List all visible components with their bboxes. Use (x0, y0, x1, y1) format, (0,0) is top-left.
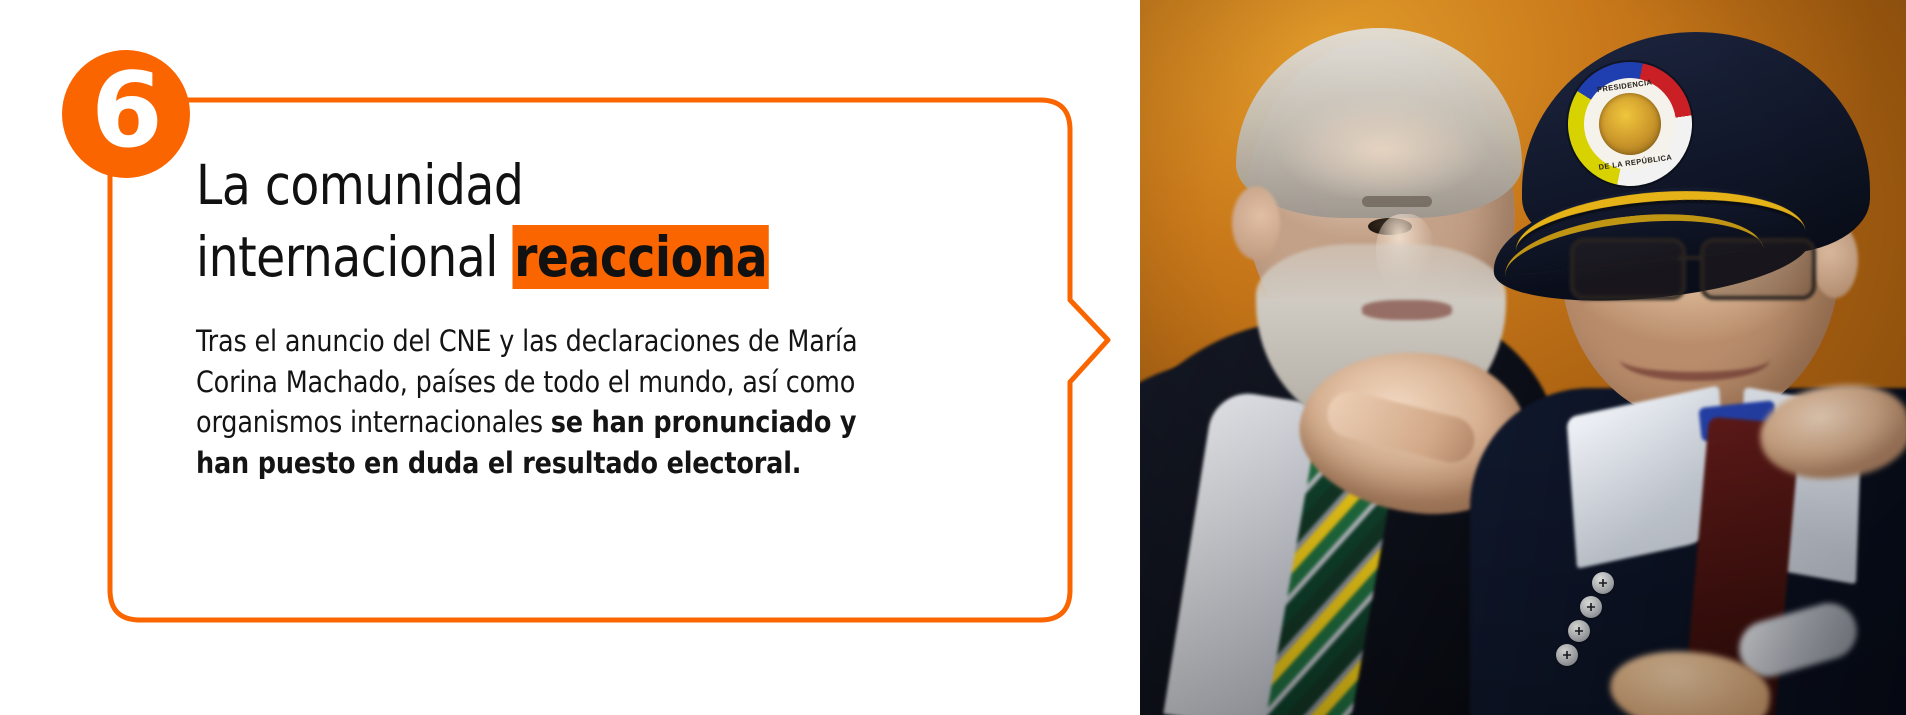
body-line-2: Corina Machado, países de todo el mundo,… (196, 362, 896, 403)
body-line-3: organismos internacionales se han pronun… (196, 402, 896, 443)
body-line-1: Tras el anuncio del CNE y las declaracio… (196, 321, 896, 362)
infographic-card: 6 La comunidad internacional reacciona T… (0, 0, 1906, 715)
body-line-4: han puesto en duda el resultado electora… (196, 443, 896, 484)
headline-line-2: internacional reacciona (196, 222, 798, 294)
body-paragraph: Tras el anuncio del CNE y las declaracio… (196, 321, 896, 483)
callout-panel: 6 La comunidad internacional reacciona T… (0, 0, 1140, 715)
step-number-label: 6 (91, 60, 161, 163)
headline-highlight-word: reacciona (512, 225, 769, 289)
photo-vignette (1140, 0, 1906, 715)
headline-line-2-plain: internacional (196, 225, 512, 289)
photo: PRESIDENCIA DE LA REPÚBLICA (1140, 0, 1906, 715)
headline: La comunidad internacional reacciona (196, 150, 798, 293)
body-line-3-plain: organismos internacionales (196, 405, 551, 439)
step-number-badge: 6 (62, 50, 190, 178)
headline-line-1: La comunidad (196, 150, 798, 222)
body-line-3-bold: se han pronunciado y (551, 405, 857, 439)
callout-content: La comunidad internacional reacciona Tra… (196, 150, 896, 483)
